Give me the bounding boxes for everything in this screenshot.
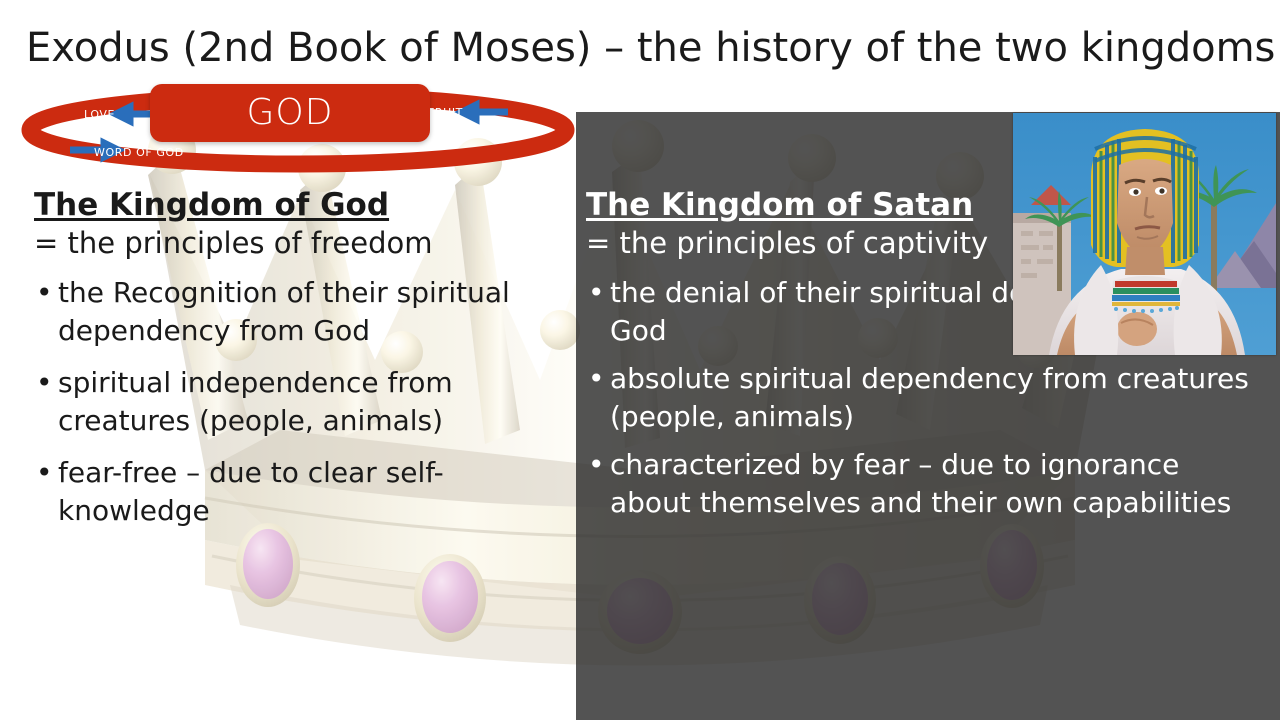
diagram-label-love: LOVE: [84, 108, 115, 121]
slide-canvas: Exodus (2nd Book of Moses) – the history…: [0, 0, 1280, 720]
diagram-label-fruit: FRUIT: [428, 106, 463, 119]
bullet-marker-icon: •: [588, 446, 605, 484]
left-column-bullet-list: •the Recognition of their spiritual depe…: [34, 274, 554, 530]
list-item-text: spiritual independence from creatures (p…: [58, 366, 453, 437]
list-item: •absolute spiritual dependency from crea…: [586, 360, 1266, 436]
god-box: GOD: [150, 84, 430, 142]
list-item-text: absolute spiritual dependency from creat…: [610, 362, 1249, 433]
bullet-marker-icon: •: [36, 364, 53, 402]
list-item: •fear-free – due to clear self-knowledge: [34, 454, 554, 530]
list-item-text: fear-free – due to clear self-knowledge: [58, 456, 444, 527]
bullet-marker-icon: •: [36, 454, 53, 492]
list-item: •spiritual independence from creatures (…: [34, 364, 554, 440]
left-column-heading: The Kingdom of God: [34, 186, 554, 224]
diagram-label-word-of-god: WORD OF GOD: [94, 146, 184, 159]
page-title: Exodus (2nd Book of Moses) – the history…: [26, 20, 1256, 78]
list-item: •characterized by fear – due to ignoranc…: [586, 446, 1266, 522]
left-column-subheading: = the principles of freedom: [34, 224, 554, 262]
bullet-marker-icon: •: [36, 274, 53, 312]
bullet-marker-icon: •: [588, 274, 605, 312]
kingdom-of-god-column: The Kingdom of God = the principles of f…: [34, 186, 554, 544]
pharaoh-image: [1013, 113, 1276, 355]
list-item-text: characterized by fear – due to ignorance…: [610, 448, 1231, 519]
god-cycle-diagram: LOVE FRUIT WORD OF GOD GOD: [18, 84, 578, 176]
list-item-text: the Recognition of their spiritual depen…: [58, 276, 510, 347]
bullet-marker-icon: •: [588, 360, 605, 398]
list-item: •the Recognition of their spiritual depe…: [34, 274, 554, 350]
god-box-label: GOD: [150, 84, 430, 142]
